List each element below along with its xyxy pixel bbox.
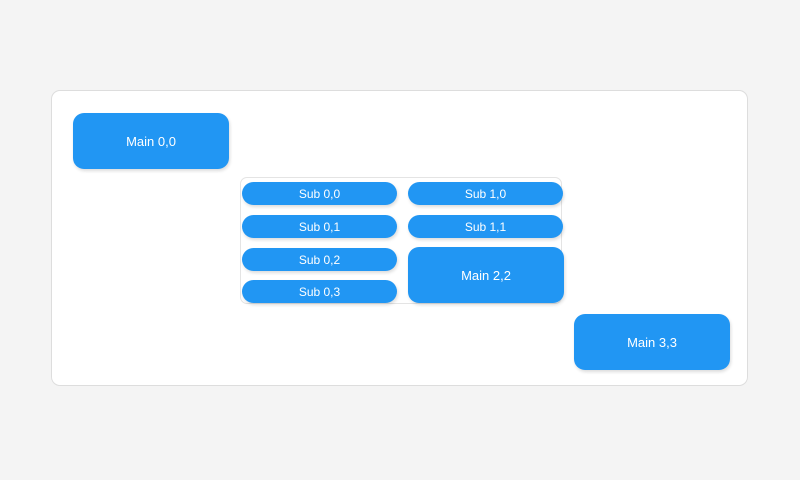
node-sub-0-0[interactable]: Sub 0,0 — [242, 182, 397, 205]
main-card: Main 0,0 Sub 0,0 Sub 0,1 Sub 0,2 Sub 0,3… — [51, 90, 748, 386]
node-sub-0-2[interactable]: Sub 0,2 — [242, 248, 397, 271]
node-main-3-3[interactable]: Main 3,3 — [574, 314, 730, 370]
node-sub-1-1[interactable]: Sub 1,1 — [408, 215, 563, 238]
sub-items-container: Sub 0,0 Sub 0,1 Sub 0,2 Sub 0,3 Sub 1,0 … — [240, 177, 562, 304]
node-sub-0-1[interactable]: Sub 0,1 — [242, 215, 397, 238]
node-main-2-2[interactable]: Main 2,2 — [408, 247, 564, 303]
page-root: { "page": { "background_color": "#f4f4f4… — [0, 0, 800, 480]
node-main-0-0[interactable]: Main 0,0 — [73, 113, 229, 169]
node-sub-1-0[interactable]: Sub 1,0 — [408, 182, 563, 205]
node-sub-0-3[interactable]: Sub 0,3 — [242, 280, 397, 303]
